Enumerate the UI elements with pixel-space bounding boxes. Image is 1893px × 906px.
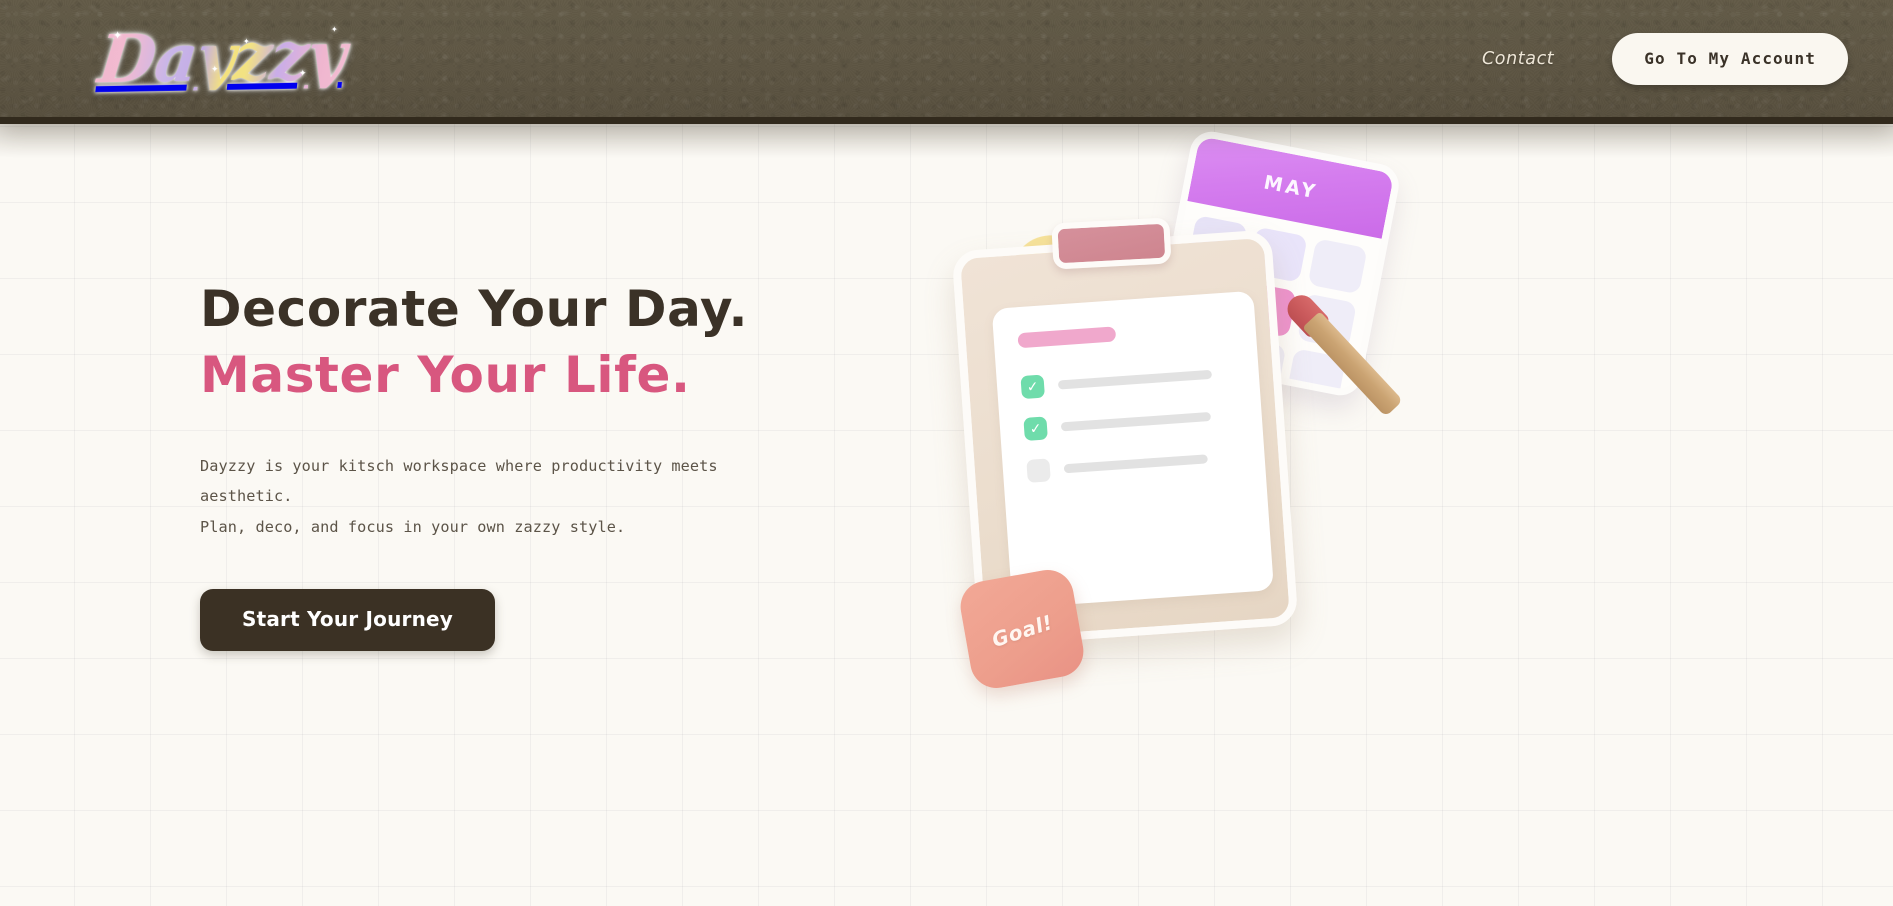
goal-sticky-note: Goal! xyxy=(956,566,1087,692)
hero-illustration: ✦ MAY xyxy=(970,140,1670,740)
hero-copy: Decorate Your Day. Master Your Life. Day… xyxy=(200,278,840,651)
task-text-placeholder xyxy=(1061,412,1211,431)
task-text-placeholder xyxy=(1058,370,1212,390)
hero-headline-line-1: Decorate Your Day. xyxy=(200,278,840,342)
checklist-item xyxy=(1026,445,1241,483)
calendar-month-label: MAY xyxy=(1262,171,1320,203)
checklist-item: ✓ xyxy=(1020,361,1235,399)
hero-subtext: Dayzzy is your kitsch workspace where pr… xyxy=(200,451,840,542)
hero-subtext-line-3: Plan, deco, and focus in your own zazzy … xyxy=(200,512,840,542)
empty-checkbox-icon xyxy=(1026,458,1051,483)
hero-subtext-line-1: Dayzzy is your kitsch workspace where pr… xyxy=(200,451,840,481)
go-to-my-account-button[interactable]: Go To My Account xyxy=(1612,33,1848,85)
clipboard-clip xyxy=(1051,217,1171,269)
checkmark-icon: ✓ xyxy=(1020,375,1045,400)
paper-title-placeholder xyxy=(1017,326,1116,348)
brand-logo[interactable]: Dayzzy ✦ ✦ ✦ ✦ ✦ xyxy=(93,4,351,110)
checkmark-icon: ✓ xyxy=(1023,416,1048,441)
landing-page: Dayzzy ✦ ✦ ✦ ✦ ✦ Contact Go To My Accoun… xyxy=(0,0,1893,906)
calendar-day-cell xyxy=(1308,238,1368,294)
task-text-placeholder xyxy=(1064,454,1208,473)
checklist-item: ✓ xyxy=(1023,403,1238,441)
nav-link-contact[interactable]: Contact xyxy=(1482,49,1554,69)
hero-headline-line-2: Master Your Life. xyxy=(200,344,840,408)
hero-subtext-line-2: aesthetic. xyxy=(200,481,840,511)
start-your-journey-button[interactable]: Start Your Journey xyxy=(200,589,495,651)
checklist: ✓ ✓ xyxy=(1020,361,1241,483)
clipboard-paper: ✓ ✓ xyxy=(992,291,1274,609)
brand-logo-text: Dayzzy xyxy=(89,22,354,92)
site-header: Dayzzy ✦ ✦ ✦ ✦ ✦ Contact Go To My Accoun… xyxy=(0,0,1893,124)
header-nav: Contact Go To My Account xyxy=(1482,0,1848,117)
goal-sticky-label: Goal! xyxy=(989,610,1056,652)
